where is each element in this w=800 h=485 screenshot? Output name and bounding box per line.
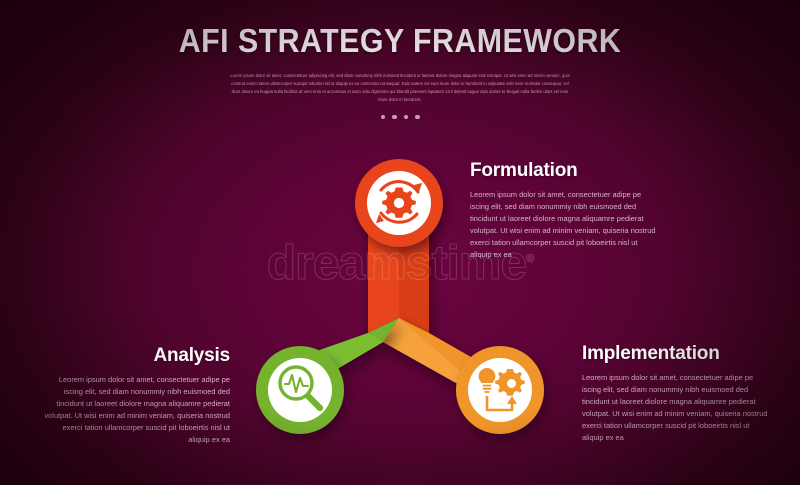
node-implementation[interactable] [456, 346, 544, 434]
section-implementation: Implementation Leorem ipsum dolor sit am… [582, 343, 772, 444]
section-title-analysis: Analysis [42, 345, 230, 367]
node-formulation[interactable] [355, 159, 443, 247]
section-title-implementation: Implementation [582, 343, 772, 365]
section-body-implementation: Leorem ipsum dolor sit amet, consectetue… [582, 372, 772, 444]
section-formulation: Formulation Leorem ipsum dolor sit amet,… [470, 160, 658, 261]
section-title-formulation: Formulation [470, 160, 658, 182]
infographic-canvas: AFI Strategy Framework Lorem ipsum dolor… [0, 0, 800, 485]
gear-icon [382, 188, 416, 218]
node-analysis[interactable] [256, 346, 344, 434]
section-analysis: Analysis Leorem ipsum dolor sit amet, co… [42, 345, 230, 446]
section-body-formulation: Leorem ipsum dolor sit amet, consectetue… [470, 189, 658, 261]
section-body-analysis: Leorem ipsum dolor sit amet, consectetue… [42, 374, 230, 446]
